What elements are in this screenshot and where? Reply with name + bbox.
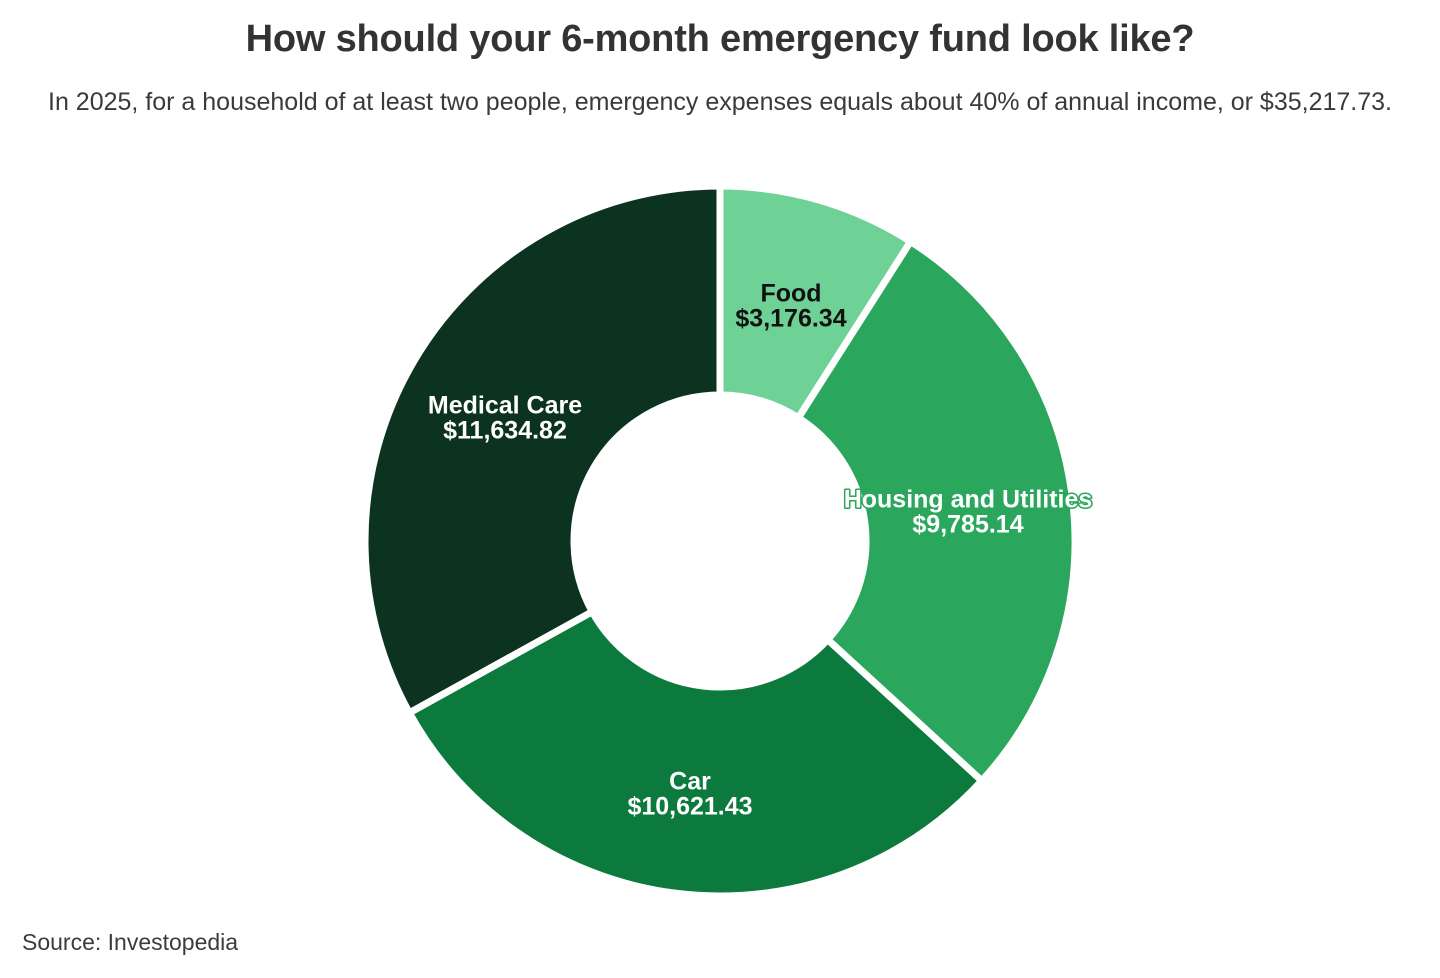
donut-slices (365, 186, 1075, 896)
donut-slice[interactable] (365, 186, 720, 713)
slice-value-label: $11,634.82 (443, 417, 567, 445)
slice-name-label: Food (760, 280, 821, 308)
donut-chart-svg: Food$3,176.34Housing and Utilities$9,785… (0, 0, 1440, 978)
source-note: Source: Investopedia (22, 929, 238, 956)
chart-page: How should your 6-month emergency fund l… (0, 0, 1440, 978)
slice-name-label: Car (669, 768, 711, 796)
slice-name-label: Housing and Utilities (844, 486, 1093, 514)
slice-value-label: $9,785.14 (912, 511, 1023, 539)
donut-chart: Food$3,176.34Housing and Utilities$9,785… (0, 0, 1440, 978)
slice-value-label: $3,176.34 (735, 305, 846, 333)
slice-value-label: $10,621.43 (627, 793, 752, 821)
slice-name-label: Medical Care (428, 392, 582, 420)
